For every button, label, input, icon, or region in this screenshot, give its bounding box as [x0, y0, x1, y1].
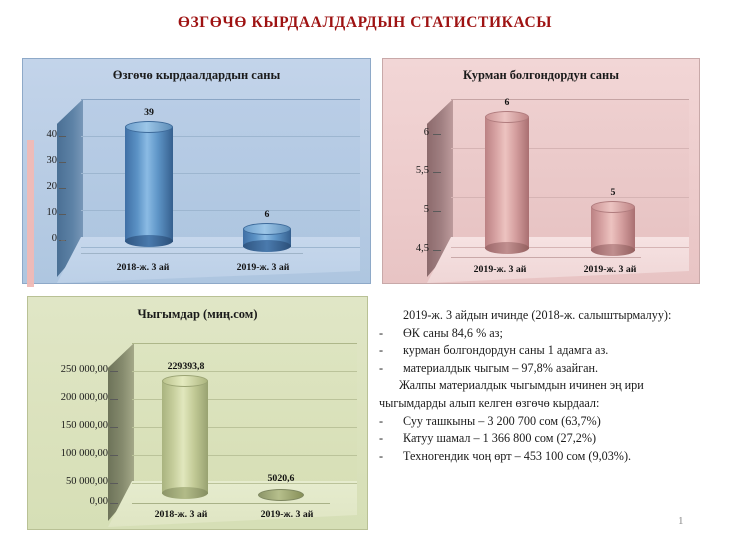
list-item-label: материалдык чыгым – 97,8% азайган.	[403, 361, 598, 375]
tick	[59, 162, 66, 163]
list-item: -материалдык чыгым – 97,8% азайган.	[379, 360, 695, 378]
chart-costs-ytick-250000: 250 000,00	[27, 364, 108, 375]
tick	[110, 427, 118, 428]
chart-costs-ytick-150000: 150 000,00	[27, 420, 108, 431]
chart-deaths-ytick-55: 5,5	[389, 165, 429, 176]
tick	[110, 503, 118, 504]
tick	[59, 136, 66, 137]
tick	[110, 371, 118, 372]
chart-costs-title: Чыгымдар (миң.сом)	[28, 307, 367, 322]
axis-line	[61, 240, 65, 241]
tick	[433, 134, 441, 135]
chart-costs-ytick-200000: 200 000,00	[27, 392, 108, 403]
chart-costs-bar-1[interactable]	[258, 489, 304, 502]
chart-deaths-bar-0[interactable]	[485, 111, 529, 255]
chart-deaths-value-0: 6	[485, 97, 529, 108]
chart-deaths-title: Курман болгондордун саны	[383, 68, 699, 83]
bullet-dash: -	[379, 360, 383, 378]
chart-deaths-floor	[427, 237, 689, 283]
chart-deaths-ytick-5: 5	[389, 204, 429, 215]
summary-bullet-list-2: -Суу ташкыны – 3 200 700 сом (63,7%) -Ка…	[379, 413, 695, 466]
gridline	[81, 173, 360, 174]
list-item: -ӨК саны 84,6 % аз;	[379, 325, 695, 343]
bullet-dash: -	[379, 413, 383, 431]
chart-deaths-value-1: 5	[591, 187, 635, 198]
chart-deaths-ytick-6: 6	[389, 127, 429, 138]
chart-incidents-bar-1[interactable]	[243, 223, 291, 253]
axis-base	[451, 257, 641, 258]
chart-costs-floor	[108, 481, 357, 527]
chart-costs-value-0: 229393,8	[146, 361, 226, 372]
chart-incidents-floor	[57, 237, 360, 283]
axis-base	[81, 253, 303, 254]
chart-incidents-title: Өзгөчө кырдаалдардын саны	[23, 68, 370, 83]
summary-bullet-list-1: -ӨК саны 84,6 % аз; -курман болгондордун…	[379, 325, 695, 378]
gridline	[81, 210, 360, 211]
chart-incidents-xlabel-0: 2018-ж. 3 ай	[83, 262, 203, 273]
tick	[59, 188, 66, 189]
summary-lead: 2019-ж. 3 айдын ичинде (2018-ж. салыштыр…	[379, 307, 695, 325]
chart-costs-value-1: 5020,6	[250, 473, 312, 484]
tick	[59, 214, 66, 215]
chart-costs-ytick-0: 0,00	[27, 496, 108, 507]
tick	[110, 483, 118, 484]
list-item-label: Суу ташкыны – 3 200 700 сом (63,7%)	[403, 414, 601, 428]
chart-costs-ytick-100000: 100 000,00	[27, 448, 108, 459]
bullet-dash: -	[379, 342, 383, 360]
chart-costs-ytick-50000: 50 000,00	[27, 476, 108, 487]
chart-costs-xlabel-1: 2019-ж. 3 ай	[234, 509, 340, 520]
list-item-label: курман болгондордун саны 1 адамга аз.	[403, 343, 608, 357]
gridline	[81, 99, 360, 100]
tick	[433, 172, 441, 173]
bullet-dash: -	[379, 325, 383, 343]
summary-paragraph: Жалпы материалдык чыгымдын ичинен эң ири…	[379, 377, 695, 412]
list-item-label: Техногендик чоң өрт – 453 100 сом (9,03%…	[403, 449, 631, 463]
chart-costs[interactable]: Чыгымдар (миң.сом) 250 000,00 200 000,00…	[27, 296, 368, 530]
tick	[110, 399, 118, 400]
gridline	[81, 136, 360, 137]
page-number: 1	[678, 515, 684, 527]
chart-deaths-xlabel-1: 2019-ж. 3 ай	[555, 264, 665, 275]
page-title: ӨЗГӨЧӨ КЫРДААЛДАРДЫН СТАТИСТИКАСЫ	[0, 14, 730, 32]
list-item: -курман болгондордун саны 1 адамга аз.	[379, 342, 695, 360]
chart-incidents-value-0: 39	[125, 107, 173, 118]
tick	[433, 250, 441, 251]
list-item: -Суу ташкыны – 3 200 700 сом (63,7%)	[379, 413, 695, 431]
gridline	[81, 247, 360, 248]
chart-costs-xlabel-0: 2018-ж. 3 ай	[128, 509, 234, 520]
stray-pink-artifact	[27, 140, 34, 287]
bullet-dash: -	[379, 448, 383, 466]
chart-deaths-xlabel-0: 2019-ж. 3 ай	[445, 264, 555, 275]
chart-incidents-value-1: 6	[243, 209, 291, 220]
list-item-label: ӨК саны 84,6 % аз;	[403, 326, 503, 340]
chart-costs-bar-0[interactable]	[162, 375, 208, 500]
chart-deaths-bar-1[interactable]	[591, 201, 635, 257]
tick	[433, 211, 441, 212]
axis-base	[132, 503, 330, 504]
chart-deaths[interactable]: Курман болгондордун саны 6 5,5 5 4,5 6 5…	[382, 58, 700, 284]
summary-text-block: 2019-ж. 3 айдын ичинде (2018-ж. салыштыр…	[379, 307, 695, 465]
list-item: -Катуу шамал – 1 366 800 сом (27,2%)	[379, 430, 695, 448]
list-item: -Техногендик чоң өрт – 453 100 сом (9,03…	[379, 448, 695, 466]
tick	[110, 455, 118, 456]
chart-incidents-bar-0[interactable]	[125, 121, 173, 248]
gridline	[132, 343, 357, 344]
list-item-label: Катуу шамал – 1 366 800 сом (27,2%)	[403, 431, 596, 445]
bullet-dash: -	[379, 430, 383, 448]
chart-incidents-xlabel-1: 2019-ж. 3 ай	[203, 262, 323, 273]
chart-incidents[interactable]: Өзгөчө кырдаалдардын саны 40 30 20 10 0 …	[22, 58, 371, 284]
chart-incidents-ytick-40: 40	[22, 129, 57, 140]
chart-deaths-ytick-45: 4,5	[389, 243, 429, 254]
